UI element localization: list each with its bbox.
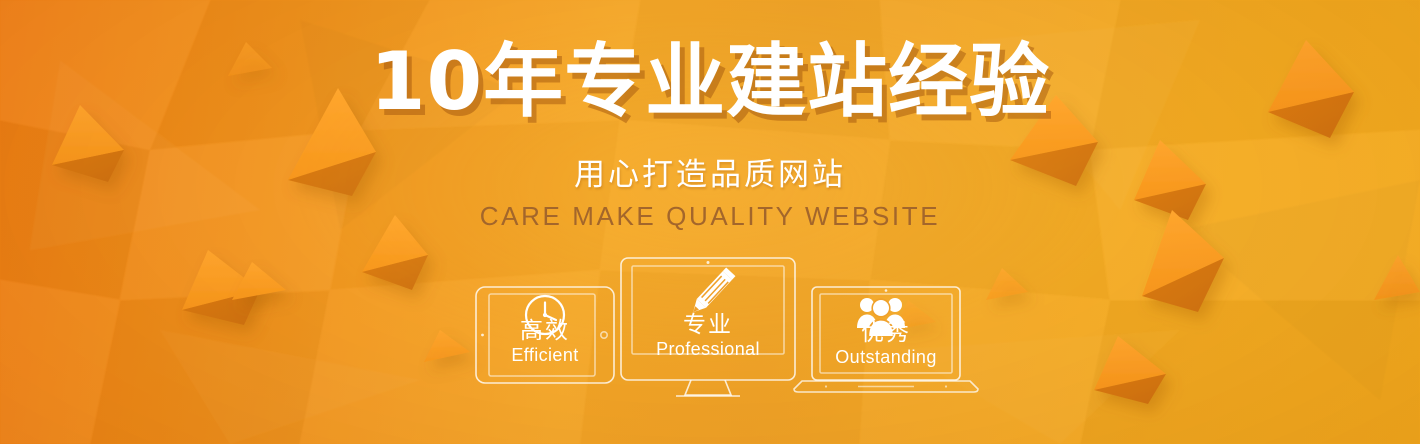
- feature-label-monitor: 专业 Professional: [620, 312, 796, 361]
- headline-container: 10年专业建站经验: [0, 42, 1420, 122]
- feature-label-tablet: 高效 Efficient: [475, 318, 615, 367]
- feature-label-en: Outstanding: [800, 346, 972, 369]
- subtitle-english: CARE MAKE QUALITY WEBSITE: [0, 202, 1420, 231]
- feature-label-cn: 专业: [620, 312, 796, 338]
- feature-label-en: Efficient: [475, 344, 615, 367]
- feature-label-cn: 高效: [475, 318, 615, 344]
- feature-label-cn: 优秀: [800, 320, 972, 346]
- pencil-icon: [686, 266, 738, 318]
- promo-banner: 10年专业建站经验 用心打造品质网站 CARE MAKE QUALITY WEB…: [0, 0, 1420, 444]
- feature-label-laptop: 优秀 Outstanding: [800, 320, 972, 369]
- page-title: 10年专业建站经验: [370, 42, 1050, 122]
- feature-label-en: Professional: [620, 338, 796, 361]
- subtitle-chinese: 用心打造品质网站: [0, 158, 1420, 192]
